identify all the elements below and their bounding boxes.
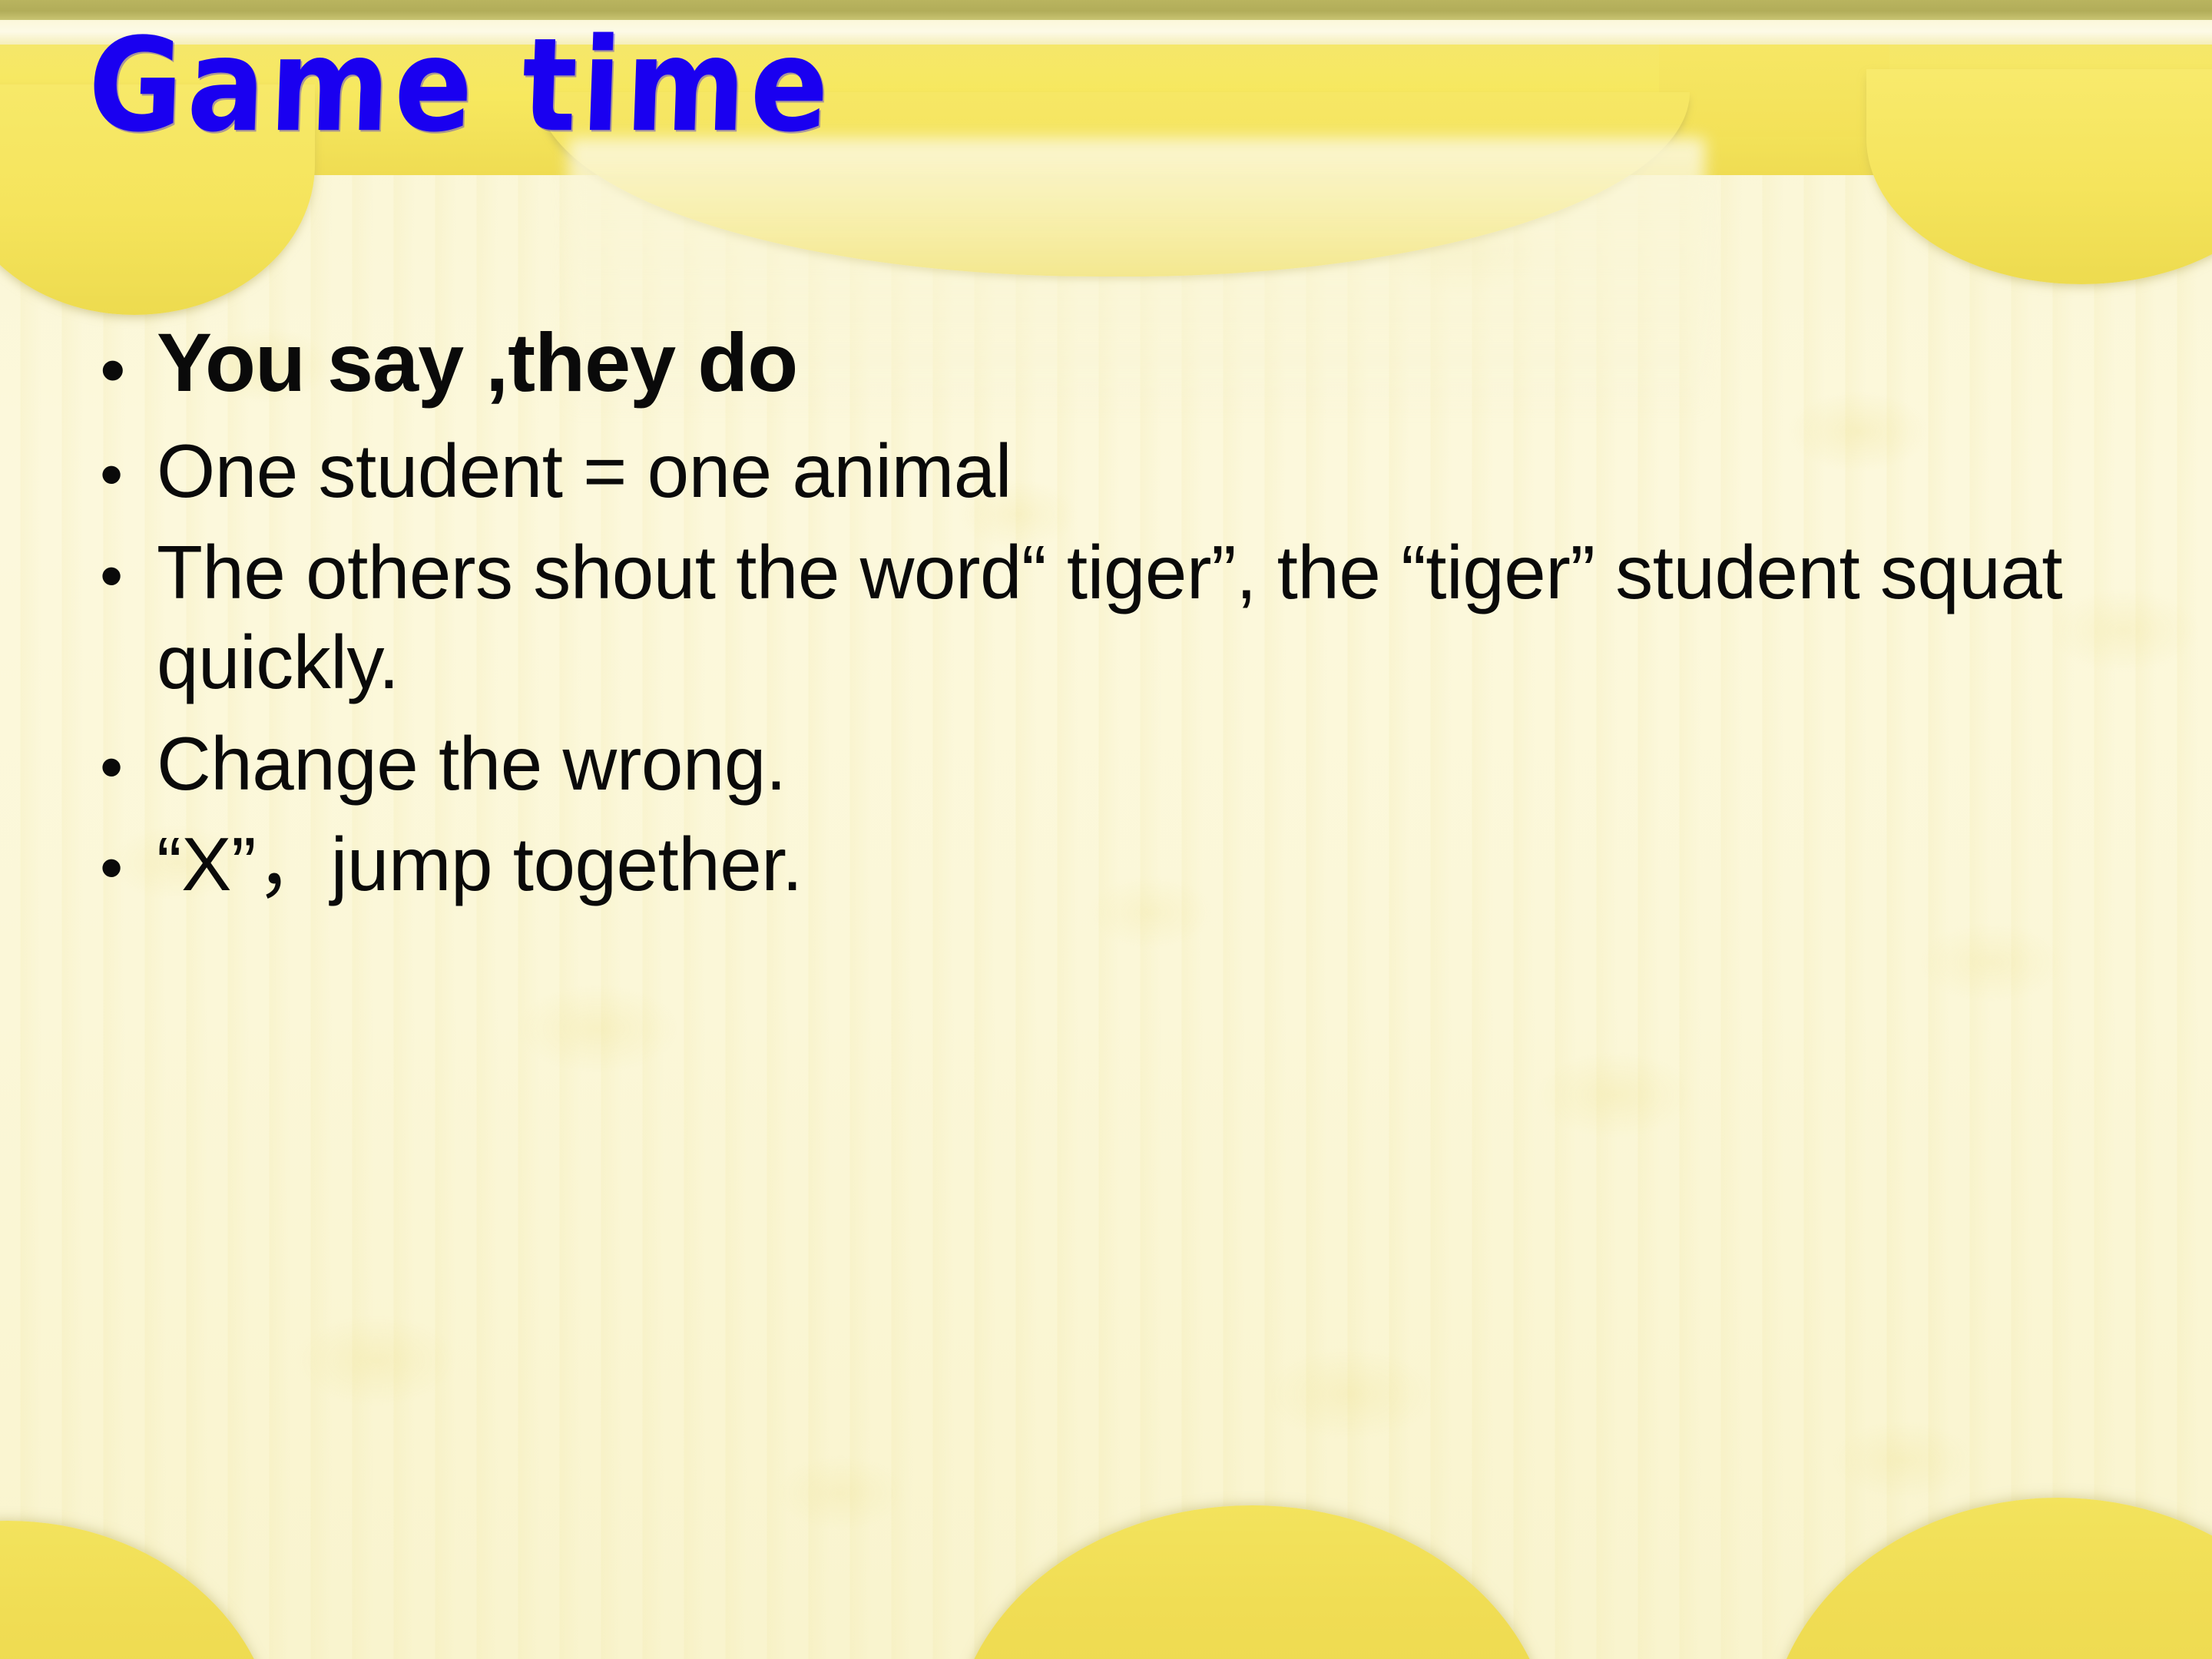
bullet-text: One student = one animal bbox=[157, 426, 2158, 517]
footer-band bbox=[0, 1444, 2212, 1659]
bullet-text: Change the wrong. bbox=[157, 719, 2158, 810]
footer-petal-right bbox=[1767, 1498, 2212, 1659]
bullet-item: • “X”，jump together. bbox=[100, 820, 2158, 910]
slide-title: Game time bbox=[86, 22, 836, 151]
bullet-text: The others shout the word“ tiger”, the “… bbox=[157, 528, 2158, 708]
slide-body-placeholder: • You say ,they do • One student = one a… bbox=[100, 316, 2158, 921]
bullet-item: • One student = one animal bbox=[100, 426, 2158, 517]
footer-petal-center bbox=[952, 1505, 1551, 1659]
bullet-item: • You say ,they do bbox=[100, 316, 2158, 409]
bullet-dot-icon: • bbox=[100, 820, 157, 901]
footer-petal-left bbox=[0, 1521, 276, 1659]
bullet-text: You say ,they do bbox=[157, 316, 2158, 409]
bullet-dot-icon: • bbox=[100, 528, 157, 609]
bullet-dot-icon: • bbox=[100, 426, 157, 508]
bullet-item: • Change the wrong. bbox=[100, 719, 2158, 810]
header-band-notch bbox=[1659, 45, 1889, 137]
bullet-dot-icon: • bbox=[100, 719, 157, 800]
bullet-dot-icon: • bbox=[100, 316, 157, 407]
bullet-text: “X”，jump together. bbox=[157, 820, 2158, 910]
bullet-item: • The others shout the word“ tiger”, the… bbox=[100, 528, 2158, 708]
slide-canvas: Game time • You say ,they do • One stude… bbox=[0, 0, 2212, 1659]
